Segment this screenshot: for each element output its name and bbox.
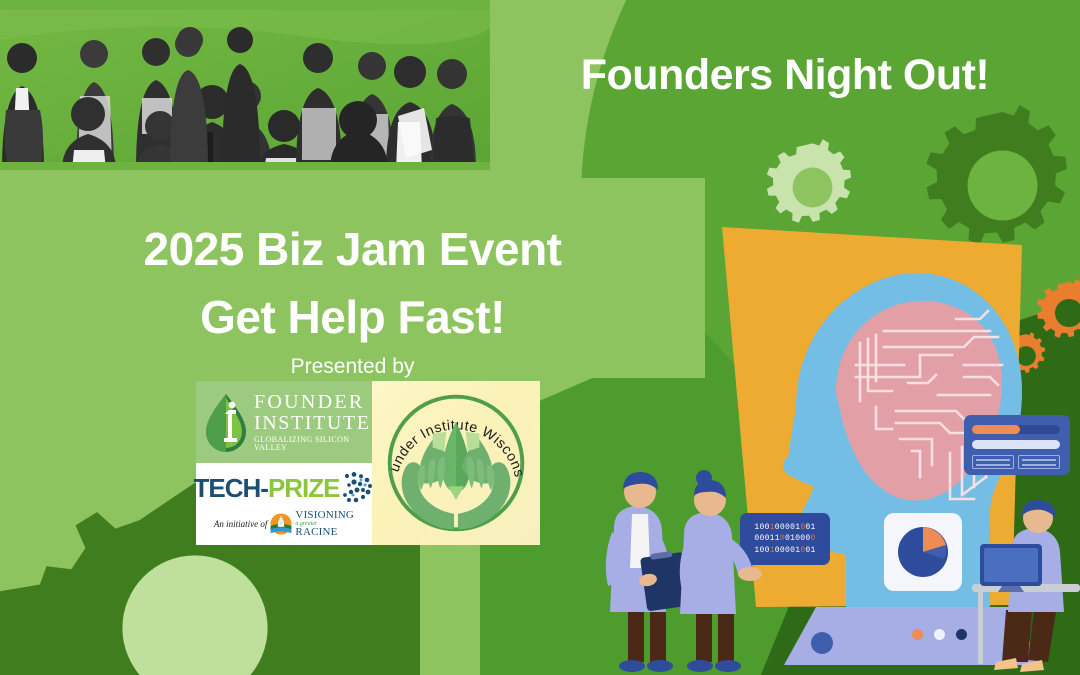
lighthouse-icon [270, 513, 292, 535]
binary-row: 100100001001 [754, 522, 815, 534]
tech-prize-wordmark: TECH - PRIZE [193, 471, 374, 505]
fi-line-1: FOUNDER [254, 392, 372, 412]
pie-chart-icon [896, 525, 950, 579]
crowd-illustration [0, 10, 490, 170]
indicator-dot [934, 629, 945, 640]
indicator-dot [912, 629, 923, 640]
progress-bar-secondary [972, 440, 1060, 449]
founder-institute-logo: FOUNDER INSTITUTE GLOBALIZING SILICON VA… [196, 381, 372, 463]
tech-prize-prize: PRIZE [268, 475, 340, 501]
visioning-line-1: VISIONING [295, 510, 354, 521]
event-poster: Founders Night Out! 2025 Biz Jam Event G… [0, 0, 1080, 675]
desk-worker [972, 500, 1080, 675]
figure-with-clipboard [606, 472, 691, 672]
indicator-dots [912, 629, 967, 640]
founder-institute-wordmark: FOUNDER INSTITUTE GLOBALIZING SILICON VA… [254, 392, 372, 452]
tech-prize-dash: - [260, 475, 268, 501]
dashboard-card [964, 415, 1070, 475]
tech-prize-initiative-row: An initiative of VISIONING [214, 510, 354, 538]
dashboard-chip [972, 455, 1014, 469]
pie-chart-card [884, 513, 962, 591]
dashboard-chip [1018, 455, 1060, 469]
sponsor-logo-block: FOUNDER INSTITUTE GLOBALIZING SILICON VA… [196, 381, 540, 545]
networking-crowd-photo [0, 0, 490, 170]
tech-prize-tech: TECH [193, 475, 260, 501]
fi-line-2: INSTITUTE [254, 413, 372, 433]
dot-cluster-icon [341, 471, 375, 505]
tech-prize-logo: TECH - PRIZE [196, 463, 372, 545]
initiative-label: An initiative of [214, 519, 268, 529]
fi-tagline: GLOBALIZING SILICON VALLEY [254, 436, 372, 452]
founder-institute-wisconsin-logo: Founder Institute Wisconsin [372, 381, 540, 545]
leaf-drop-icon [202, 392, 250, 452]
binary-row: 000110010000 [754, 533, 815, 545]
standing-figures [592, 462, 762, 675]
progress-bar-primary [972, 425, 1060, 434]
visioning-line-3: RACINE [295, 527, 354, 538]
visioning-racine-wordmark: VISIONING a greater RACINE [295, 510, 354, 538]
figure-gesturing [680, 470, 762, 672]
page-title: Founders Night Out! [520, 52, 1050, 99]
binary-row: 100100001001 [754, 545, 815, 557]
indicator-dot [956, 629, 967, 640]
sponsor-logos-left-column: FOUNDER INSTITUTE GLOBALIZING SILICON VA… [196, 381, 372, 545]
pedestal-dot [811, 632, 833, 654]
fiw-emblem-icon: Founder Institute Wisconsin [378, 385, 534, 541]
